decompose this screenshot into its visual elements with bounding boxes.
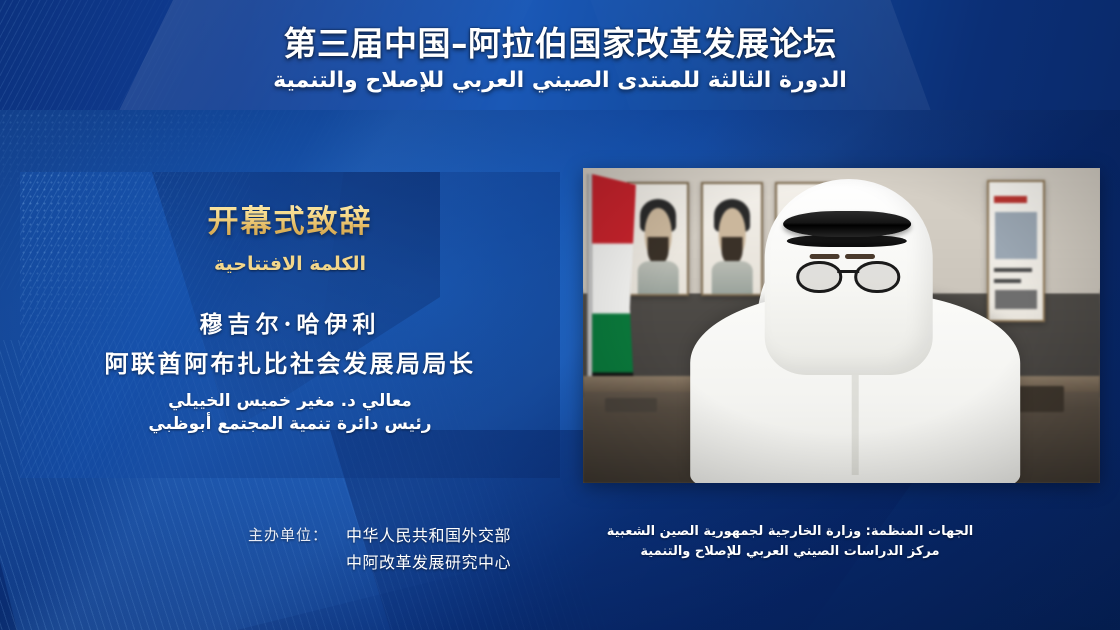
header-content: 第三届中国–阿拉伯国家改革发展论坛 الدورة الثالثة للمنتدى…	[0, 0, 1120, 110]
speaker-block: 穆吉尔·哈伊利 阿联酋阿布扎比社会发展局局长 معالي د. مغير خمي…	[105, 305, 476, 434]
speaker-name-chinese: 穆吉尔·哈伊利	[199, 305, 380, 339]
speaker-name-arabic: معالي د. مغير خميس الخييلي	[168, 391, 412, 411]
speaker-eyebrow-right	[845, 254, 875, 259]
footer-arabic-block: الجهات المنظمة: وزارة الخارجية لجمهورية …	[600, 522, 980, 562]
forum-title-chinese: 第三届中国–阿拉伯国家改革发展论坛	[284, 17, 837, 65]
speaker-video-feed[interactable]	[583, 168, 1100, 483]
speaker-info-panel: 开幕式致辞 الكلمة الافتتاحية 穆吉尔·哈伊利 阿联酋阿布扎比社…	[20, 172, 560, 478]
speaker-title-arabic: رئيس دائرة تنمية المجتمع أبوظبي	[148, 414, 431, 434]
section-heading-arabic: الكلمة الافتتاحية	[214, 253, 366, 275]
section-heading-chinese: 开幕式致辞	[208, 196, 373, 241]
speaker-figure	[583, 168, 1100, 483]
organizer-list-chinese: 中华人民共和国外交部 中阿改革发展研究中心	[346, 522, 511, 573]
glasses-lens-left	[796, 261, 842, 293]
panel-content: 开幕式致辞 الكلمة الافتتاحية 穆吉尔·哈伊利 阿联酋阿布扎比社…	[20, 172, 560, 478]
header-band: 第三届中国–阿拉伯国家改革发展论坛 الدورة الثالثة للمنتدى…	[0, 0, 1120, 110]
speaker-eyebrow-left	[809, 254, 839, 259]
organizer-line-2-chinese: 中阿改革发展研究中心	[346, 549, 511, 573]
organizer-line-1-arabic: الجهات المنظمة: وزارة الخارجية لجمهورية …	[600, 522, 980, 542]
speaker-title-chinese: 阿联酋阿布扎比社会发展局局长	[105, 344, 476, 379]
agal-cord	[783, 211, 911, 237]
glasses-lens-right	[854, 261, 900, 293]
organizer-line-2-arabic: مركز الدراسات الصيني العربي للإصلاح والت…	[600, 542, 980, 562]
organizer-line-1-chinese: 中华人民共和国外交部	[346, 522, 511, 546]
footer-credits: 主办单位： 中华人民共和国外交部 中阿改革发展研究中心 الجهات المنظ…	[0, 510, 1120, 630]
footer-chinese-block: 主办单位： 中华人民共和国外交部 中阿改革发展研究中心	[248, 522, 511, 573]
slide-stage: 第三届中国–阿拉伯国家改革发展论坛 الدورة الثالثة للمنتدى…	[0, 0, 1120, 630]
organizer-label-chinese: 主办单位：	[248, 522, 328, 545]
eyeglasses-icon	[796, 261, 900, 287]
forum-title-arabic: الدورة الثالثة للمنتدى الصيني العربي للإ…	[273, 68, 847, 93]
